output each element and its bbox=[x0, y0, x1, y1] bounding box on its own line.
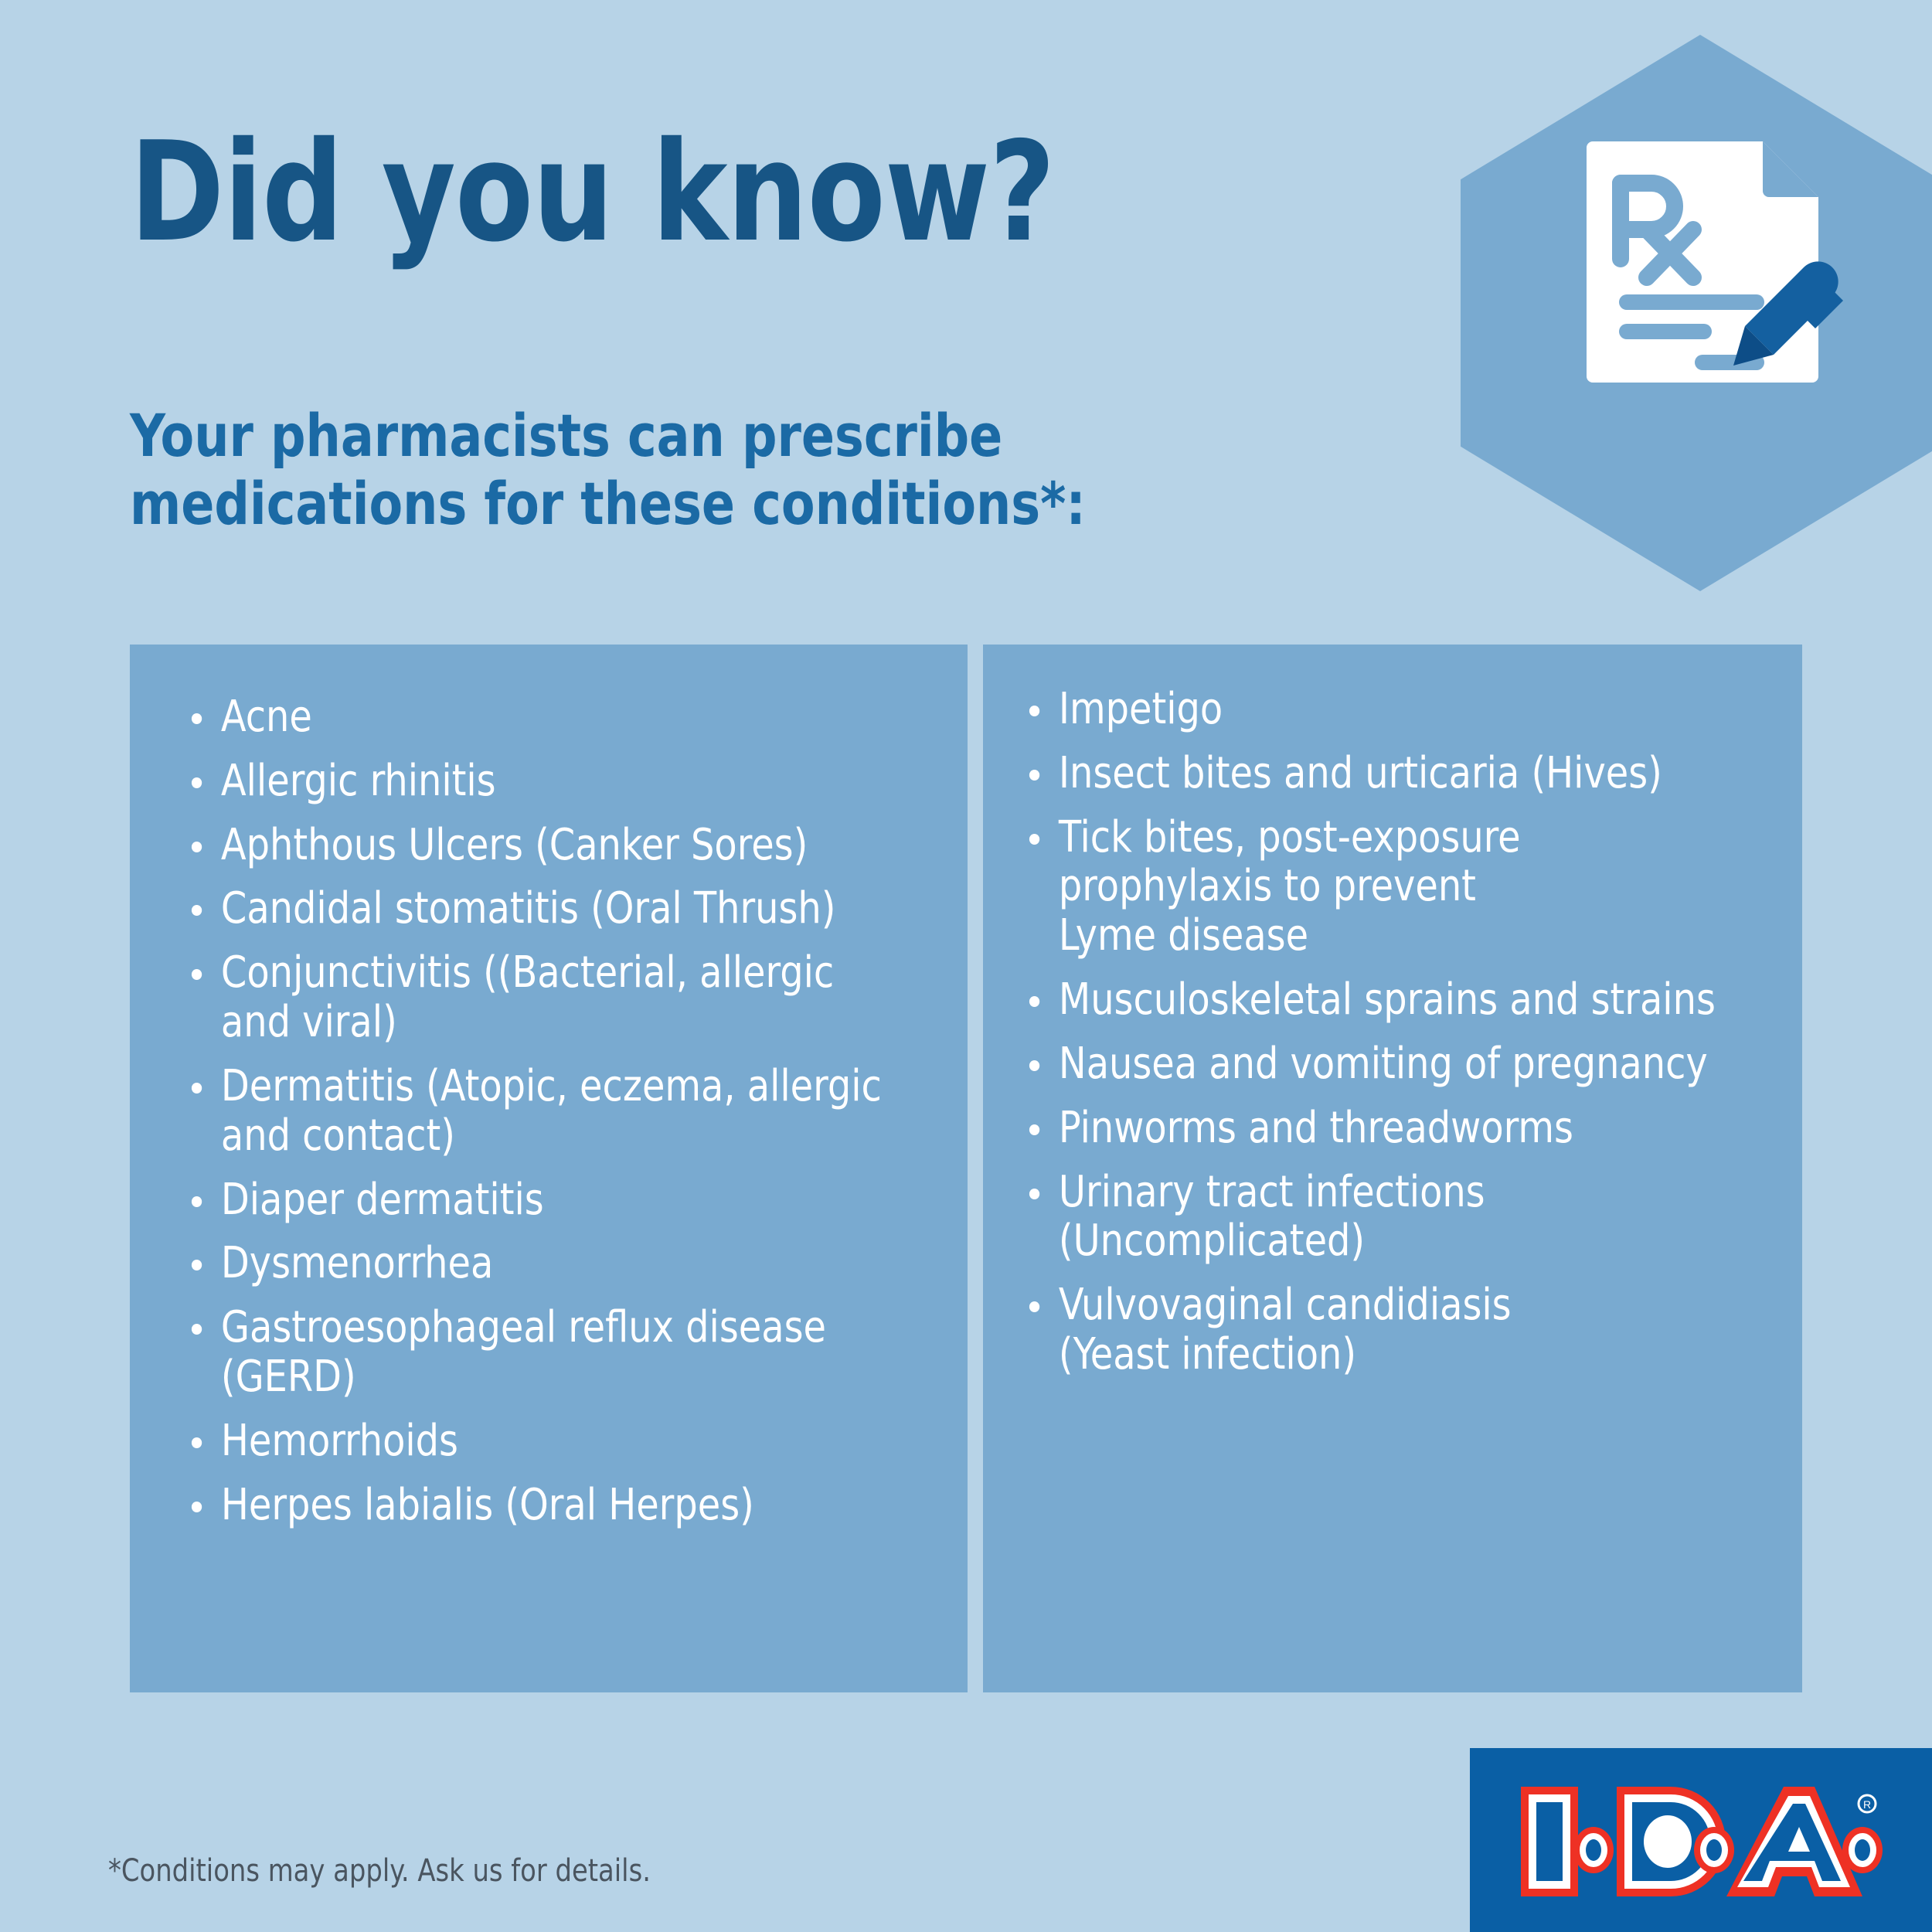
list-item: Candidal stomatitis (Oral Thrush) bbox=[190, 884, 900, 934]
list-item: Insect bites and urticaria (Hives) bbox=[1028, 749, 1741, 798]
list-item: Aphthous Ulcers (Canker Sores) bbox=[190, 821, 900, 870]
list-item: Nausea and vomiting of pregnancy bbox=[1028, 1039, 1741, 1089]
list-item: Gastroesophageal reflux disease (GERD) bbox=[190, 1303, 900, 1402]
page-subtitle: Your pharmacists can prescribe medicatio… bbox=[130, 402, 1086, 538]
list-item: Herpes labialis (Oral Herpes) bbox=[190, 1481, 900, 1530]
list-item: Acne bbox=[190, 692, 900, 742]
list-item: Urinary tract infections (Uncomplicated) bbox=[1028, 1168, 1741, 1267]
footnote-disclaimer: *Conditions may apply. Ask us for detail… bbox=[108, 1853, 651, 1889]
prescription-rx-document-icon bbox=[1580, 135, 1843, 383]
svg-text:R: R bbox=[1863, 1798, 1871, 1811]
conditions-panel-right: Impetigo Insect bites and urticaria (Hiv… bbox=[983, 645, 1802, 1692]
poster-canvas: Did you know? Your pharmacists can presc… bbox=[0, 0, 1932, 1932]
list-item: Diaper dermatitis bbox=[190, 1175, 900, 1225]
list-item: Allergic rhinitis bbox=[190, 757, 900, 806]
ida-logo: R bbox=[1470, 1748, 1932, 1932]
list-item: Dermatitis (Atopic, eczema, allergic and… bbox=[190, 1062, 900, 1161]
conditions-list-left: Acne Allergic rhinitis Aphthous Ulcers (… bbox=[130, 645, 968, 1530]
list-item: Impetigo bbox=[1028, 685, 1741, 734]
conditions-panel-left: Acne Allergic rhinitis Aphthous Ulcers (… bbox=[130, 645, 968, 1692]
list-item: Hemorrhoids bbox=[190, 1417, 900, 1466]
conditions-list-right: Impetigo Insect bites and urticaria (Hiv… bbox=[983, 645, 1802, 1379]
list-item: Musculoskeletal sprains and strains bbox=[1028, 975, 1741, 1025]
ida-logo-mark: R bbox=[1518, 1784, 1886, 1900]
list-item: Dysmenorrhea bbox=[190, 1239, 900, 1288]
list-item: Conjunctivitis ((Bacterial, allergic and… bbox=[190, 948, 900, 1047]
page-title: Did you know? bbox=[130, 124, 1055, 261]
list-item: Vulvovaginal candidiasis (Yeast infectio… bbox=[1028, 1281, 1741, 1379]
list-item: Pinworms and threadworms bbox=[1028, 1104, 1741, 1153]
list-item: Tick bites, post-exposure prophylaxis to… bbox=[1028, 813, 1741, 961]
